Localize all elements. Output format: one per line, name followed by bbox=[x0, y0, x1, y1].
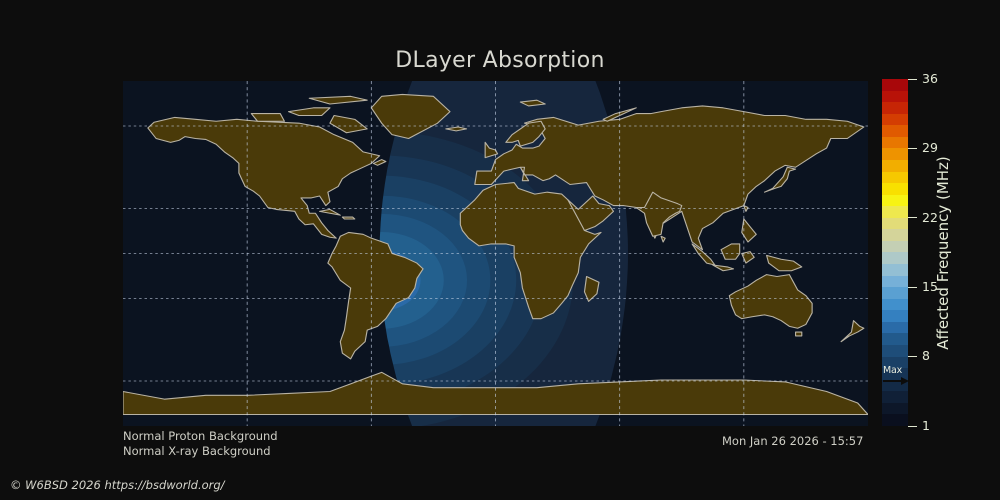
colorbar-band bbox=[882, 218, 908, 230]
colorbar-band bbox=[882, 414, 908, 426]
world-map[interactable] bbox=[123, 81, 868, 426]
colorbar-band bbox=[882, 195, 908, 207]
colorbar-band bbox=[882, 91, 908, 103]
colorbar-band bbox=[882, 241, 908, 253]
colorbar-band bbox=[882, 114, 908, 126]
world-map-svg bbox=[123, 81, 868, 426]
colorbar-band bbox=[882, 380, 908, 392]
dlayer-absorption-map-window: DLayer Absorption 362 bbox=[0, 0, 1000, 500]
colorbar-band bbox=[882, 287, 908, 299]
landmass-victoria bbox=[251, 114, 284, 122]
colorbar-band bbox=[882, 357, 908, 369]
colorbar-axis-title: Affected Frequency (MHz) bbox=[930, 79, 956, 426]
status-xray: Normal X-ray Background bbox=[123, 444, 278, 459]
colorbar-band bbox=[882, 102, 908, 114]
colorbar-band bbox=[882, 299, 908, 311]
landmass-hispaniola bbox=[342, 217, 354, 219]
colorbar-band bbox=[882, 160, 908, 172]
colorbar-band bbox=[882, 183, 908, 195]
status-block: Normal Proton Background Normal X-ray Ba… bbox=[123, 429, 278, 459]
colorbar-band bbox=[882, 79, 908, 91]
colorbar-band bbox=[882, 310, 908, 322]
status-proton: Normal Proton Background bbox=[123, 429, 278, 444]
colorbar-band bbox=[882, 391, 908, 403]
timestamp: Mon Jan 26 2026 - 15:57 bbox=[722, 434, 863, 448]
colorbar-band bbox=[882, 333, 908, 345]
colorbar-band bbox=[882, 322, 908, 334]
colorbar-band bbox=[882, 229, 908, 241]
colorbar-band bbox=[882, 345, 908, 357]
colorbar-band bbox=[882, 368, 908, 380]
copyright-notice: © W6BSD 2026 https://bsdworld.org/ bbox=[10, 478, 225, 492]
colorbar-tick-label: 8 bbox=[922, 350, 930, 363]
colorbar-band bbox=[882, 276, 908, 288]
page-title: DLayer Absorption bbox=[0, 48, 1000, 73]
colorbar-band bbox=[882, 206, 908, 218]
colorbar-band bbox=[882, 264, 908, 276]
landmass-tasmania bbox=[796, 332, 802, 336]
colorbar-gradient[interactable] bbox=[882, 79, 908, 426]
colorbar-tick-label: 1 bbox=[922, 420, 930, 433]
colorbar-band bbox=[882, 252, 908, 264]
colorbar-band bbox=[882, 148, 908, 160]
colorbar-band bbox=[882, 125, 908, 137]
colorbar-band bbox=[882, 403, 908, 415]
colorbar-band bbox=[882, 172, 908, 184]
colorbar-band bbox=[882, 137, 908, 149]
